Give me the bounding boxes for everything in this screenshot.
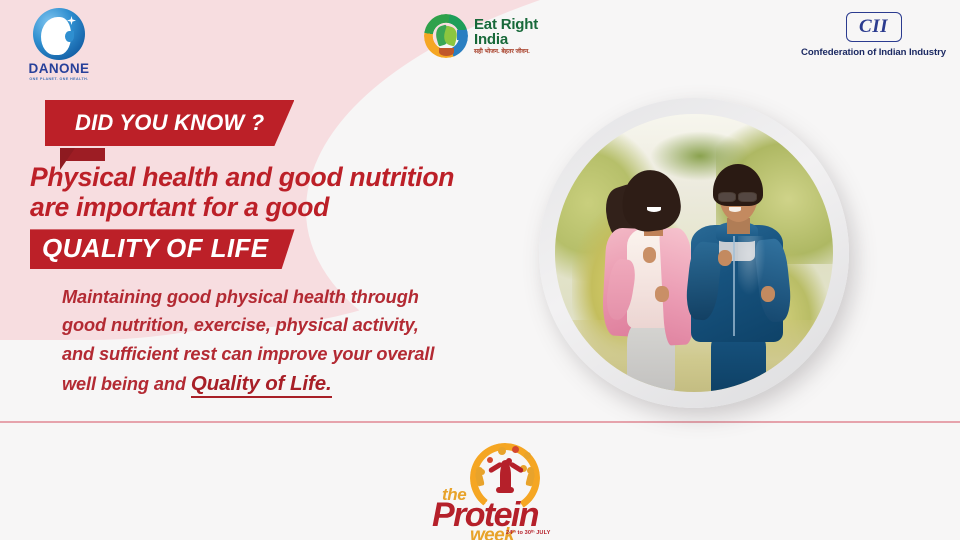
bowl-icon: [439, 48, 454, 56]
protein-week-date-label: 24ᵗʰ to 30ᵗʰ JULY: [506, 530, 550, 536]
footer-divider: [0, 421, 960, 423]
body-line-1: Maintaining good physical health through: [62, 283, 532, 311]
protein-week-center-head-icon: [501, 460, 510, 469]
body-line-4-prefix: well being and: [62, 374, 191, 394]
quality-of-life-label: QUALITY OF LIFE: [42, 233, 269, 263]
cii-logo: CII Confederation of Indian Industry: [801, 12, 946, 58]
ribbon-label: DID YOU KNOW ?: [75, 110, 264, 136]
body-line-3: and sufficient rest can improve your ove…: [62, 340, 532, 368]
body-line-2: good nutrition, exercise, physical activ…: [62, 311, 532, 339]
eri-line-2: India: [474, 32, 538, 47]
protein-week-dot-icon: [512, 446, 519, 453]
protein-week-dot-icon: [524, 452, 531, 459]
headline-block: Physical health and good nutrition are i…: [30, 162, 550, 269]
quality-of-life-bar: QUALITY OF LIFE: [30, 229, 295, 269]
protein-week-figure-right-head-icon: [527, 467, 534, 474]
man-fist-left: [718, 250, 732, 266]
ribbon-body: DID YOU KNOW ?: [45, 100, 294, 146]
eri-line-1: Eat Right: [474, 17, 538, 32]
photo-ring-frame: [539, 98, 849, 408]
protein-week-center-leg-icon: [496, 487, 514, 493]
blue-square-icon: [457, 30, 466, 40]
headline-line-1: Physical health and good nutrition: [30, 162, 550, 192]
header-logo-bar: DANONE ONE PLANET. ONE HEALTH. Eat Right…: [0, 0, 960, 85]
man-glasses-right-lens: [738, 192, 756, 202]
protein-week-dot-icon: [498, 447, 506, 455]
body-line-4: well being and Quality of Life.: [62, 368, 532, 400]
poster-canvas: DANONE ONE PLANET. ONE HEALTH. Eat Right…: [0, 0, 960, 540]
cii-monogram-box: CII: [846, 12, 902, 42]
eat-right-india-wordmark: Eat Right India सही भोजन. बेहतर जीवन.: [474, 17, 538, 55]
eat-right-india-logo: Eat Right India सही भोजन. बेहतर जीवन.: [424, 14, 538, 58]
man-glasses-left-lens: [718, 192, 736, 202]
woman-fist-upper: [643, 247, 657, 262]
danone-logo: DANONE ONE PLANET. ONE HEALTH.: [16, 8, 102, 81]
protein-week-figure-left-head-icon: [476, 467, 483, 474]
man-jacket-zip: [733, 236, 734, 336]
jogging-couple-photo: [555, 114, 833, 392]
cii-subtitle: Confederation of Indian Industry: [801, 47, 946, 58]
danone-tagline: ONE PLANET. ONE HEALTH.: [16, 77, 102, 81]
did-you-know-ribbon: DID YOU KNOW ?: [45, 100, 294, 146]
eat-right-india-circle-icon: [424, 14, 468, 58]
cii-monogram: CII: [859, 16, 888, 38]
danone-wordmark: DANONE: [16, 62, 102, 76]
woman-fist-lower: [655, 286, 669, 301]
headline-line-2: are important for a good: [30, 192, 550, 222]
child-silhouette-icon: [41, 17, 71, 55]
eri-hindi-tagline: सही भोजन. बेहतर जीवन.: [474, 49, 538, 55]
danone-globe-icon: [33, 8, 85, 60]
protein-week-dot-icon: [487, 457, 493, 463]
body-line-4-emphasis: Quality of Life.: [191, 372, 332, 398]
body-copy-block: Maintaining good physical health through…: [62, 283, 532, 400]
protein-week-logo: the Protein week 24ᵗʰ to 30ᵗʰ JULY: [424, 443, 574, 533]
